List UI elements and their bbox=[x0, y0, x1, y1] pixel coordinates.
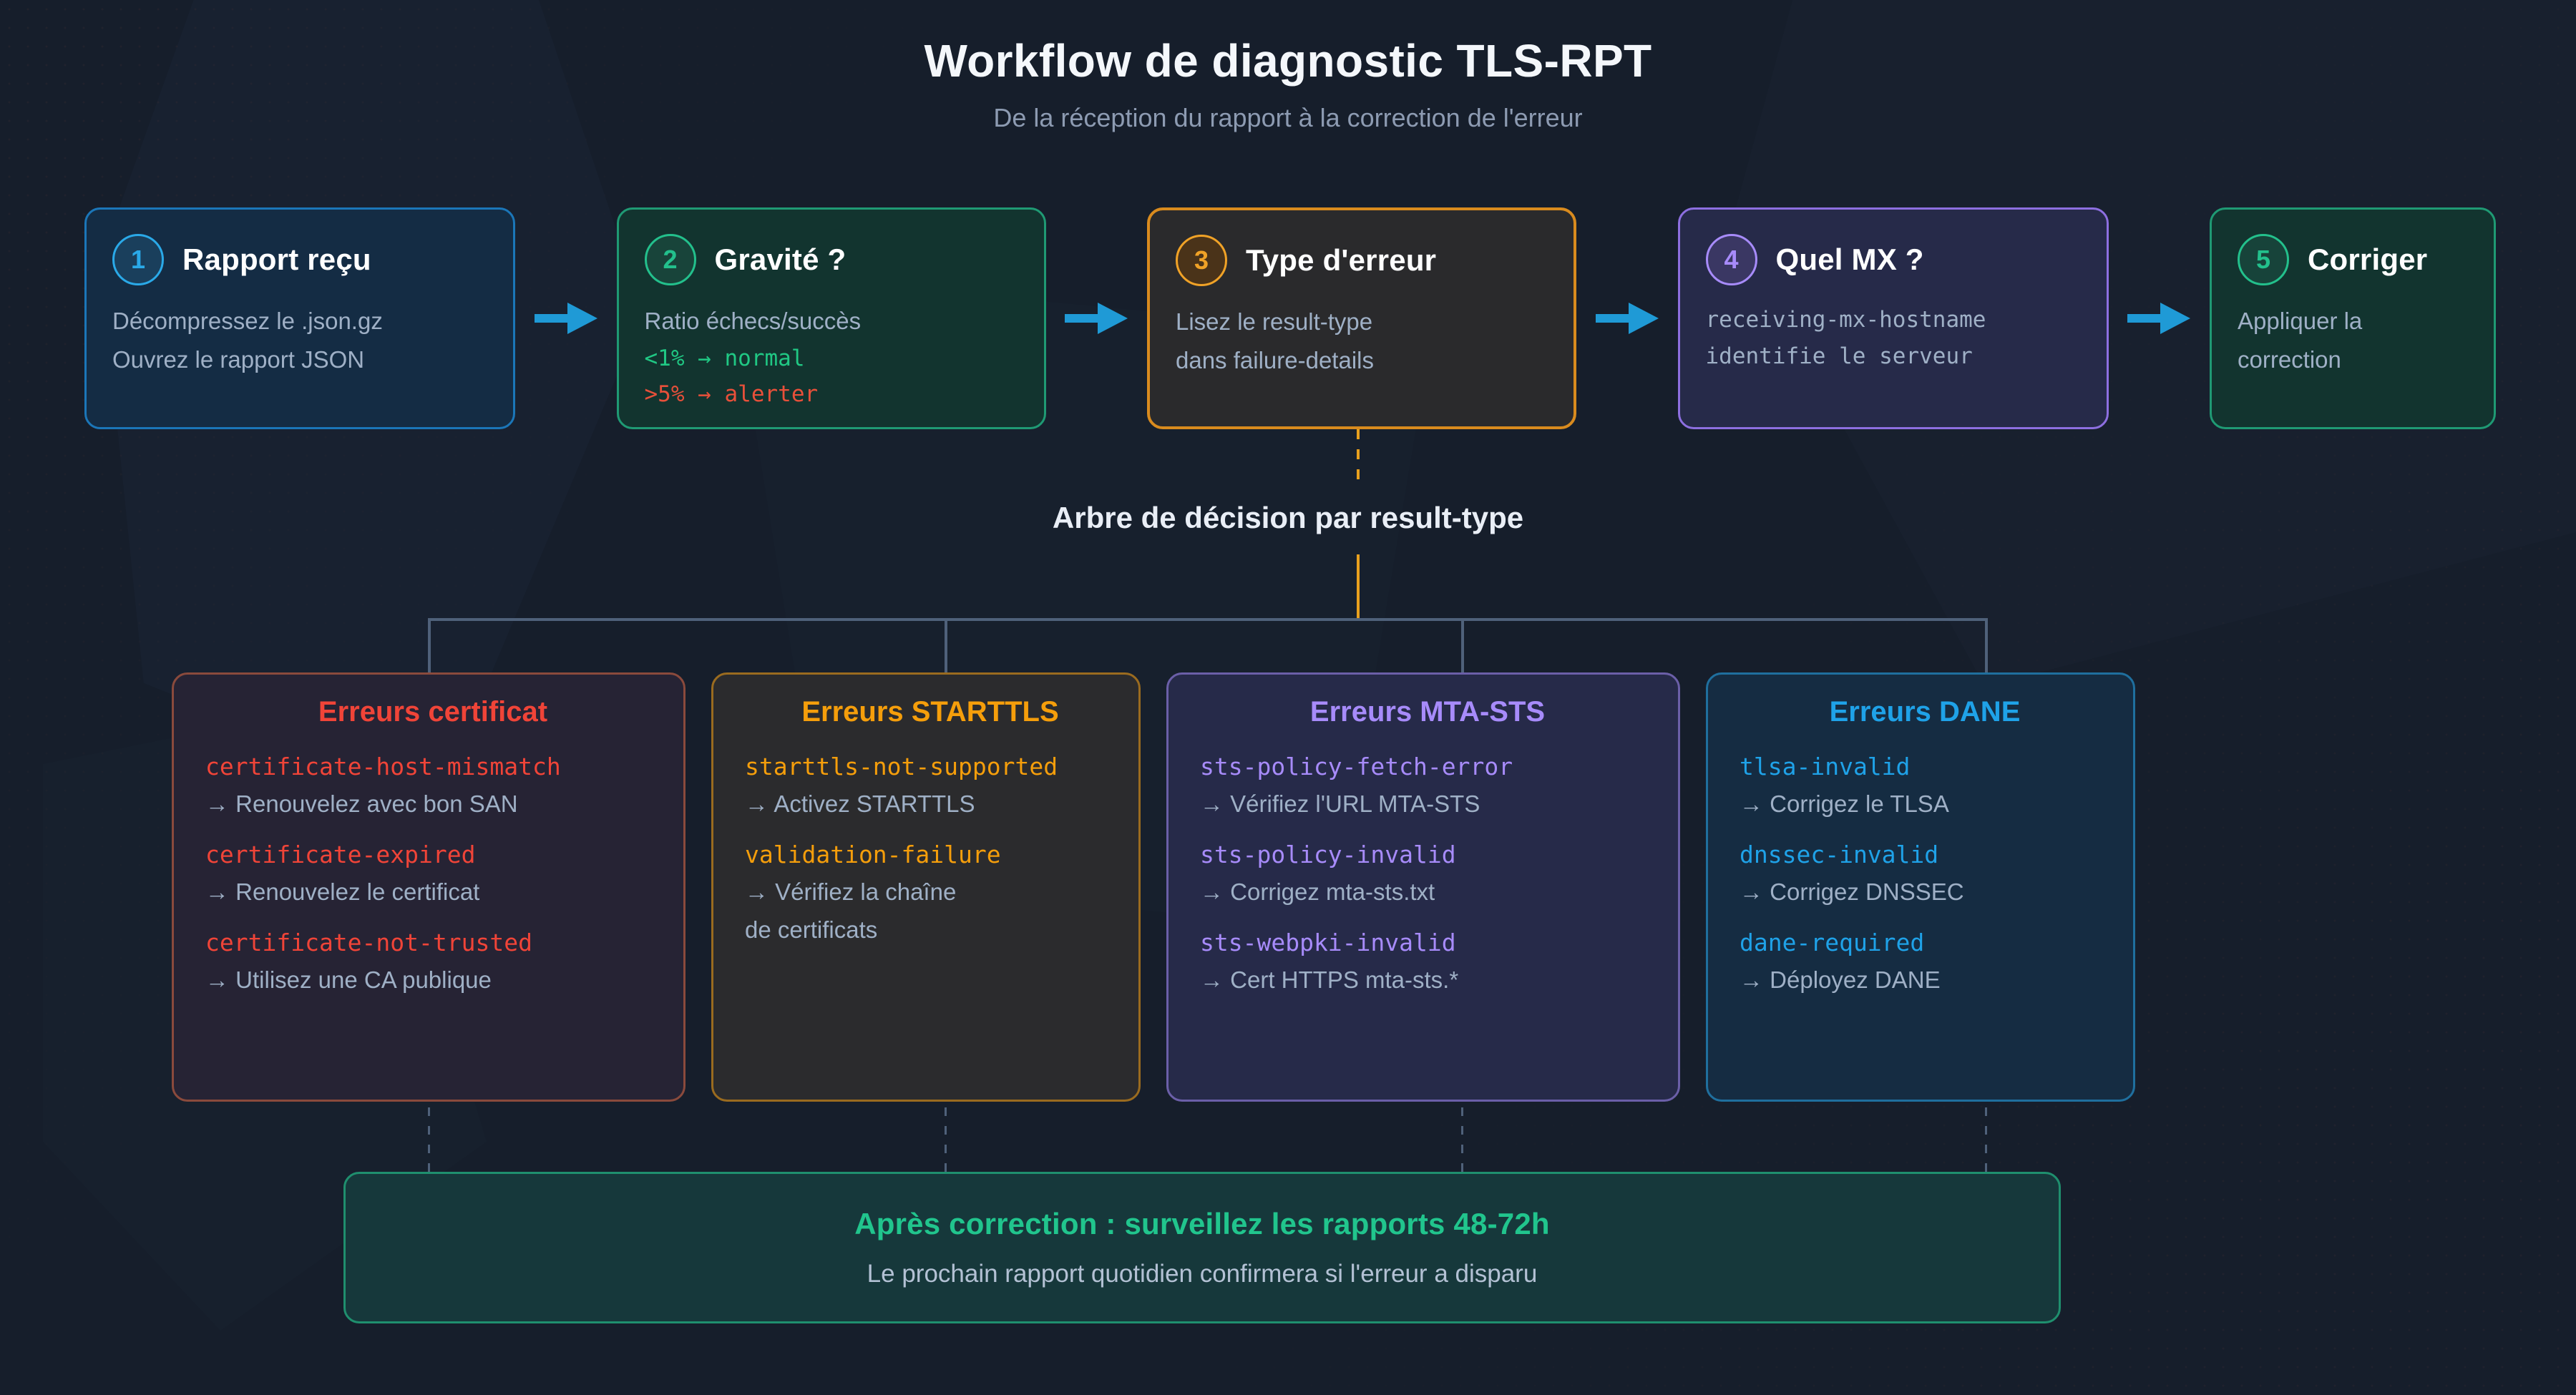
step-body: Lisez le result-type dans failure-detail… bbox=[1176, 306, 1548, 376]
error-code: sts-webpki-invalid bbox=[1200, 929, 1655, 957]
page-title: Workflow de diagnostic TLS-RPT bbox=[0, 34, 2576, 89]
step-line: Ratio échecs/succès bbox=[645, 305, 1018, 337]
connector-bus-horizontal bbox=[428, 618, 1988, 621]
error-entry: dnssec-invalid → Corrigez DNSSEC bbox=[1740, 841, 2110, 907]
step-header: 1 Rapport reçu bbox=[112, 234, 487, 285]
panel-title: Erreurs certificat bbox=[205, 696, 660, 728]
step-line: Lisez le result-type bbox=[1176, 306, 1548, 338]
error-entry: certificate-not-trusted → Utilisez une C… bbox=[205, 929, 660, 995]
error-entry: sts-policy-invalid → Corrigez mta-sts.tx… bbox=[1200, 841, 1655, 907]
step-body: Décompressez le .json.gz Ouvrez le rappo… bbox=[112, 305, 487, 375]
error-code: certificate-expired bbox=[205, 841, 660, 869]
rule-arrow: → bbox=[698, 346, 711, 371]
connector-leg-cert bbox=[428, 618, 431, 674]
connector-leg-starttls bbox=[945, 618, 947, 674]
step-line: identifie le serveur bbox=[1706, 342, 2081, 371]
footer-connector-dane bbox=[1985, 1107, 1987, 1178]
panel-dane-errors[interactable]: Erreurs DANE tlsa-invalid → Corrigez le … bbox=[1706, 672, 2135, 1102]
error-code: sts-policy-fetch-error bbox=[1200, 753, 1655, 781]
step-header: 2 Gravité ? bbox=[645, 234, 1018, 285]
error-fix: → Renouvelez avec bon SAN bbox=[205, 788, 660, 820]
page-subtitle: De la réception du rapport à la correcti… bbox=[0, 103, 2576, 133]
step-title: Gravité ? bbox=[715, 243, 847, 277]
rule-verdict: alerter bbox=[725, 381, 819, 407]
step-body: Ratio échecs/succès <1% → normal >5% → a… bbox=[645, 305, 1018, 409]
decision-tree-label: Arbre de décision par result-type bbox=[0, 501, 2576, 535]
error-code: starttls-not-supported bbox=[745, 753, 1116, 781]
step-line: receiving-mx-hostname bbox=[1706, 305, 2081, 335]
step-card-4[interactable]: 4 Quel MX ? receiving-mx-hostname identi… bbox=[1678, 207, 2109, 429]
step-header: 4 Quel MX ? bbox=[1706, 234, 2081, 285]
step-number-badge: 1 bbox=[112, 234, 164, 285]
error-fix: → Utilisez une CA publique bbox=[205, 964, 660, 996]
error-code: dane-required bbox=[1740, 929, 2110, 957]
footer-connector-cert bbox=[428, 1107, 430, 1178]
flow-arrow-3 bbox=[1576, 298, 1678, 338]
error-entry: tlsa-invalid → Corrigez le TLSA bbox=[1740, 753, 2110, 819]
step-card-1[interactable]: 1 Rapport reçu Décompressez le .json.gz … bbox=[84, 207, 515, 429]
footer-headline: Après correction : surveillez les rappor… bbox=[854, 1207, 1550, 1241]
footer-connector-mtasts bbox=[1461, 1107, 1463, 1178]
arrow-right-icon bbox=[1065, 298, 1128, 338]
connector-solid-to-bus bbox=[1357, 554, 1360, 619]
connector-dashed-from-step3 bbox=[1357, 429, 1360, 481]
arrow-right-icon bbox=[1596, 298, 1659, 338]
panel-title: Erreurs STARTTLS bbox=[745, 696, 1116, 728]
error-fix-continued: de certificats bbox=[745, 914, 1116, 946]
flow-arrow-2 bbox=[1046, 298, 1148, 338]
rule-condition: >5% bbox=[645, 381, 685, 407]
error-fix: → Activez STARTTLS bbox=[745, 788, 1116, 820]
step-line: Décompressez le .json.gz bbox=[112, 305, 487, 337]
connector-leg-dane bbox=[1985, 618, 1988, 674]
step-body: receiving-mx-hostname identifie le serve… bbox=[1706, 305, 2081, 371]
arrow-right-icon bbox=[2127, 298, 2190, 338]
panel-starttls-errors[interactable]: Erreurs STARTTLS starttls-not-supported … bbox=[711, 672, 1141, 1102]
step-header: 5 Corriger bbox=[2238, 234, 2468, 285]
error-fix: → Corrigez mta-sts.txt bbox=[1200, 876, 1655, 908]
error-panels: Erreurs certificat certificate-host-mism… bbox=[172, 672, 2204, 1102]
error-code: validation-failure bbox=[745, 841, 1116, 869]
rule-arrow: → bbox=[698, 381, 711, 407]
error-fix: → Corrigez le TLSA bbox=[1740, 788, 2110, 820]
error-fix: → Vérifiez l'URL MTA-STS bbox=[1200, 788, 1655, 820]
panel-mtasts-errors[interactable]: Erreurs MTA-STS sts-policy-fetch-error →… bbox=[1166, 672, 1680, 1102]
flow-arrow-4 bbox=[2109, 298, 2210, 338]
footer-connector-starttls bbox=[945, 1107, 947, 1178]
footer-banner: Après correction : surveillez les rappor… bbox=[343, 1172, 2061, 1323]
header: Workflow de diagnostic TLS-RPT De la réc… bbox=[0, 34, 2576, 133]
severity-rule-normal: <1% → normal bbox=[645, 344, 1018, 373]
error-code: sts-policy-invalid bbox=[1200, 841, 1655, 869]
step-card-3[interactable]: 3 Type d'erreur Lisez le result-type dan… bbox=[1147, 207, 1576, 429]
step-number-badge: 3 bbox=[1176, 235, 1227, 286]
error-code: certificate-not-trusted bbox=[205, 929, 660, 957]
step-number-badge: 4 bbox=[1706, 234, 1757, 285]
step-title: Type d'erreur bbox=[1246, 243, 1436, 278]
error-fix: → Déployez DANE bbox=[1740, 964, 2110, 996]
footer-subtext: Le prochain rapport quotidien confirmera… bbox=[867, 1260, 1538, 1288]
step-body: Appliquer la correction bbox=[2238, 305, 2468, 375]
arrow-right-icon bbox=[535, 298, 597, 338]
rule-verdict: normal bbox=[725, 346, 805, 371]
step-card-2[interactable]: 2 Gravité ? Ratio échecs/succès <1% → no… bbox=[617, 207, 1046, 429]
step-line: dans failure-details bbox=[1176, 345, 1548, 376]
error-entry: certificate-host-mismatch → Renouvelez a… bbox=[205, 753, 660, 819]
severity-rule-alert: >5% → alerter bbox=[645, 380, 1018, 409]
step-title: Quel MX ? bbox=[1776, 243, 1924, 277]
connector-leg-mtasts bbox=[1461, 618, 1464, 674]
step-card-5[interactable]: 5 Corriger Appliquer la correction bbox=[2210, 207, 2496, 429]
panel-title: Erreurs MTA-STS bbox=[1200, 696, 1655, 728]
diagram-canvas: Workflow de diagnostic TLS-RPT De la réc… bbox=[0, 0, 2576, 1395]
error-entry: certificate-expired → Renouvelez le cert… bbox=[205, 841, 660, 907]
step-title: Corriger bbox=[2308, 243, 2427, 277]
step-line: Ouvrez le rapport JSON bbox=[112, 344, 487, 376]
step-line: correction bbox=[2238, 344, 2468, 376]
error-fix: → Corrigez DNSSEC bbox=[1740, 876, 2110, 908]
error-fix: → Renouvelez le certificat bbox=[205, 876, 660, 908]
step-number-badge: 5 bbox=[2238, 234, 2289, 285]
step-number-badge: 2 bbox=[645, 234, 696, 285]
panel-certificate-errors[interactable]: Erreurs certificat certificate-host-mism… bbox=[172, 672, 686, 1102]
error-code: tlsa-invalid bbox=[1740, 753, 2110, 781]
error-entry: validation-failure → Vérifiez la chaîne … bbox=[745, 841, 1116, 946]
step-line: Appliquer la bbox=[2238, 305, 2468, 337]
error-entry: sts-policy-fetch-error → Vérifiez l'URL … bbox=[1200, 753, 1655, 819]
step-title: Rapport reçu bbox=[182, 243, 371, 277]
workflow-steps: 1 Rapport reçu Décompressez le .json.gz … bbox=[84, 207, 2496, 429]
rule-condition: <1% bbox=[645, 346, 685, 371]
error-entry: sts-webpki-invalid → Cert HTTPS mta-sts.… bbox=[1200, 929, 1655, 995]
error-fix: → Vérifiez la chaîne bbox=[745, 876, 1116, 908]
error-entry: dane-required → Déployez DANE bbox=[1740, 929, 2110, 995]
error-entry: starttls-not-supported → Activez STARTTL… bbox=[745, 753, 1116, 819]
flow-arrow-1 bbox=[515, 298, 617, 338]
error-code: dnssec-invalid bbox=[1740, 841, 2110, 869]
panel-title: Erreurs DANE bbox=[1740, 696, 2110, 728]
error-code: certificate-host-mismatch bbox=[205, 753, 660, 781]
error-fix: → Cert HTTPS mta-sts.* bbox=[1200, 964, 1655, 996]
step-header: 3 Type d'erreur bbox=[1176, 235, 1548, 286]
